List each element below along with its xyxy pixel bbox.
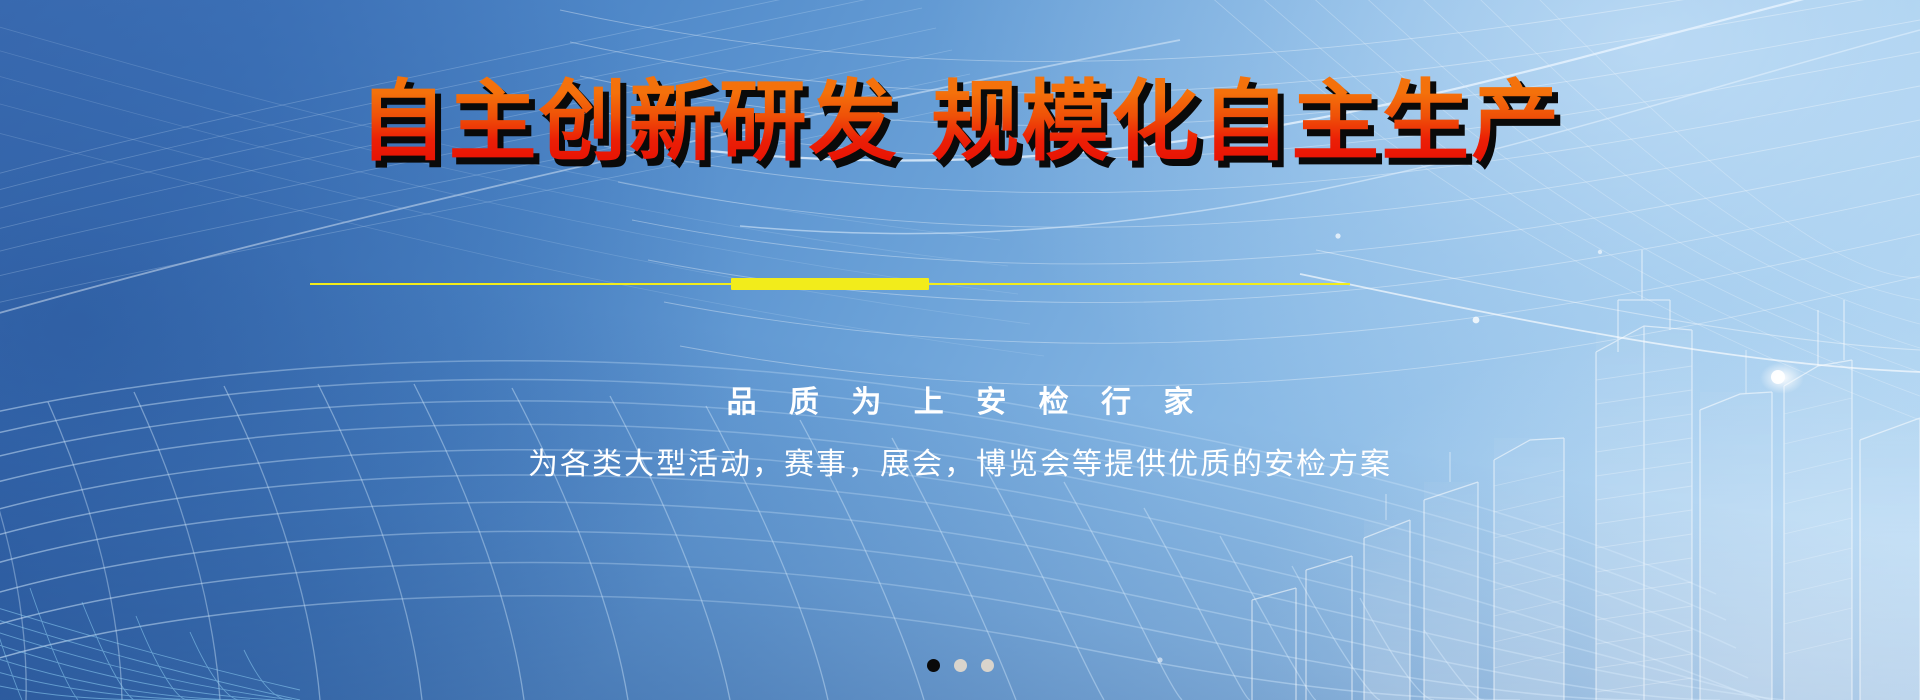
hero-banner: 自主创新研发 规模化自主生产 自主创新研发 规模化自主生产 品 质 为 上 安 … xyxy=(0,0,1920,700)
carousel-dot-1[interactable] xyxy=(927,659,940,672)
subtitle-slogan: 品 质 为 上 安 检 行 家 xyxy=(0,382,1920,424)
headline-text: 自主创新研发 规模化自主生产 xyxy=(359,70,1562,173)
subtitle-description: 为各类大型活动，赛事，展会，博览会等提供优质的安检方案 xyxy=(0,444,1920,486)
carousel-dot-2[interactable] xyxy=(954,659,967,672)
divider-center-accent xyxy=(731,278,929,290)
wave-line-swoosh-top xyxy=(560,0,1920,420)
subtitle-container: 品 质 为 上 安 检 行 家 为各类大型活动，赛事，展会，博览会等提供优质的安… xyxy=(0,382,1920,486)
yellow-divider xyxy=(310,278,1350,290)
headline-container: 自主创新研发 规模化自主生产 自主创新研发 规模化自主生产 xyxy=(0,74,1920,169)
carousel-dots[interactable] xyxy=(0,659,1920,672)
carousel-dot-3[interactable] xyxy=(981,659,994,672)
banner-headline: 自主创新研发 规模化自主生产 自主创新研发 规模化自主生产 xyxy=(359,74,1562,169)
